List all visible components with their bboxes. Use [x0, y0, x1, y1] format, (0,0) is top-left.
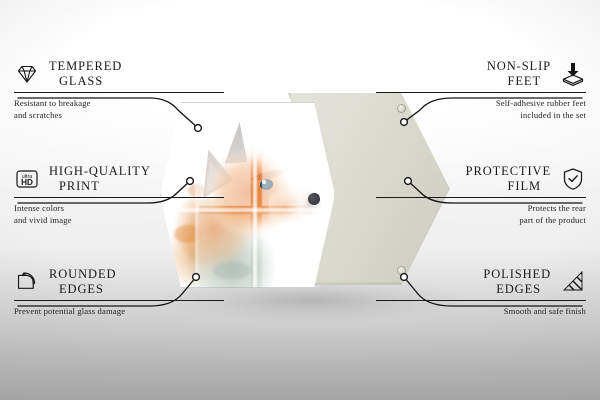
feature-description: Smooth and safe finish — [376, 305, 586, 317]
title-rule — [376, 300, 586, 301]
feature-protective-film[interactable]: PROTECTIVE FILM Protects the rear part o… — [376, 164, 586, 226]
feature-description: Intense colors and vivid image — [14, 202, 224, 227]
diamond-icon — [14, 61, 40, 87]
shield-check-icon — [560, 166, 586, 192]
feature-title: HIGH-QUALITY PRINT — [49, 164, 151, 194]
feature-description: Resistant to breakage and scratches — [14, 97, 224, 122]
feature-title: POLISHED EDGES — [483, 267, 551, 297]
infographic-canvas: TEMPERED GLASS Resistant to breakage and… — [0, 0, 600, 400]
title-rule — [376, 197, 586, 198]
title-rule — [14, 197, 224, 198]
rounded-corner-icon — [14, 269, 40, 295]
feature-description: Prevent potential glass damage — [14, 305, 224, 317]
feature-high-quality-print[interactable]: ultra HD HIGH-QUALITY PRINT Intense colo… — [14, 164, 224, 226]
title-rule — [14, 300, 224, 301]
title-rule — [14, 92, 224, 93]
title-rule — [376, 92, 586, 93]
feature-title: TEMPERED GLASS — [49, 59, 122, 89]
svg-text:HD: HD — [21, 178, 33, 187]
feature-description: Self-adhesive rubber feet included in th… — [376, 97, 586, 122]
feature-title: NON-SLIP FEET — [487, 59, 551, 89]
feature-non-slip-feet[interactable]: NON-SLIP FEET Self-adhesive rubber feet … — [376, 59, 586, 121]
feature-title: PROTECTIVE FILM — [466, 164, 551, 194]
hatched-triangle-icon — [560, 269, 586, 295]
feature-polished-edges[interactable]: POLISHED EDGES Smooth and safe finish — [376, 267, 586, 317]
feature-title: ROUNDED EDGES — [49, 267, 116, 297]
press-down-pad-icon — [560, 61, 586, 87]
feature-tempered-glass[interactable]: TEMPERED GLASS Resistant to breakage and… — [14, 59, 224, 121]
feature-description: Protects the rear part of the product — [376, 202, 586, 227]
feature-rounded-edges[interactable]: ROUNDED EDGES Prevent potential glass da… — [14, 267, 224, 317]
ultra-hd-icon: ultra HD — [14, 166, 40, 192]
